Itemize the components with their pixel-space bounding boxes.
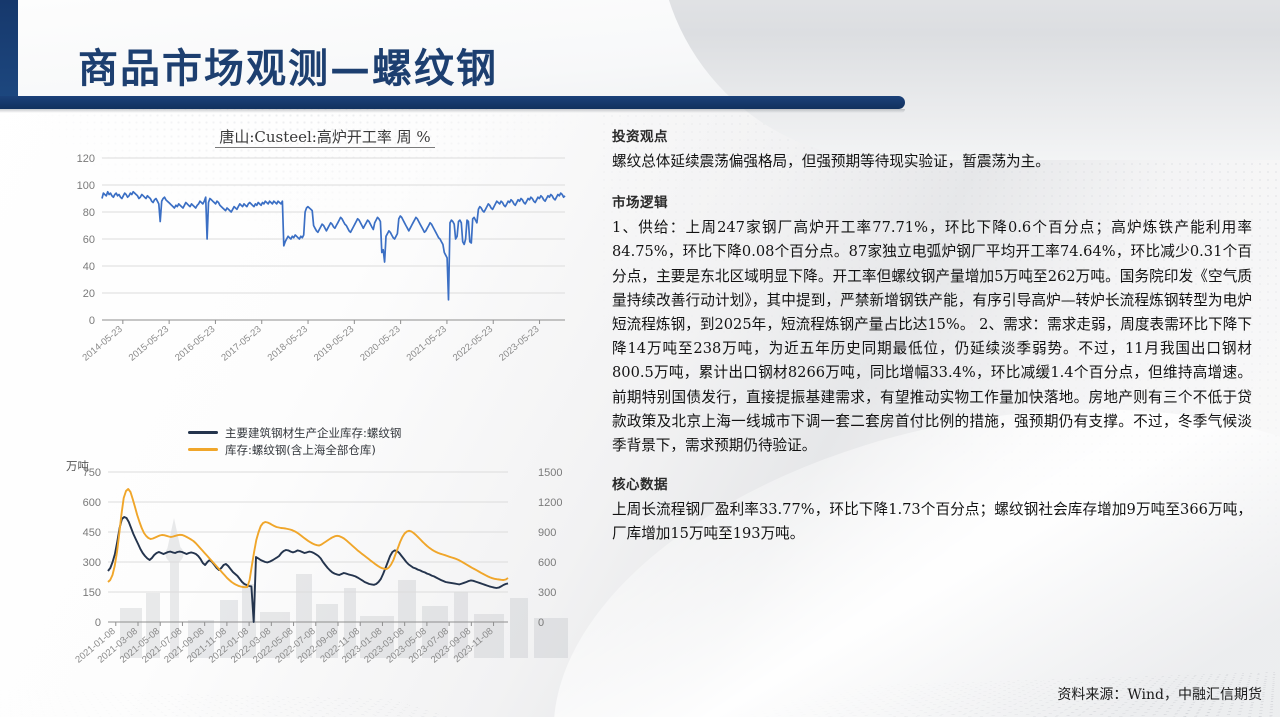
chart1-title-wrap: 唐山:Custeel:高炉开工率 周 % bbox=[60, 128, 590, 148]
legend-swatch-social-inventory bbox=[188, 448, 218, 451]
svg-text:2022-05-23: 2022-05-23 bbox=[451, 324, 495, 364]
svg-text:120: 120 bbox=[77, 153, 95, 165]
slide-header: 商品市场观测—螺纹钢 bbox=[0, 0, 1280, 118]
legend-label-social-inventory: 库存:螺纹钢(含上海全部仓库) bbox=[225, 442, 376, 458]
chart2-canvas: 万吨01503004506007500300600900120015002021… bbox=[60, 458, 580, 688]
svg-text:60: 60 bbox=[83, 234, 95, 246]
page-title: 商品市场观测—螺纹钢 bbox=[78, 36, 498, 94]
svg-text:900: 900 bbox=[538, 527, 556, 539]
section-body-market-logic: 1、供给：上周247家钢厂高炉开工率77.71%，环比下降0.6个百分点；高炉炼… bbox=[612, 216, 1252, 458]
svg-text:450: 450 bbox=[83, 527, 101, 539]
section-heading-core-data: 核心数据 bbox=[612, 473, 1252, 493]
source-note: 资料来源：Wind，中融汇信期货 bbox=[1057, 684, 1262, 704]
header-rule-shadow bbox=[0, 109, 905, 113]
svg-text:750: 750 bbox=[83, 467, 101, 479]
chart-blast-furnace-operating-rate: 唐山:Custeel:高炉开工率 周 % 0204060801001202014… bbox=[60, 128, 590, 398]
chart1-title: 唐山:Custeel:高炉开工率 周 % bbox=[215, 128, 434, 148]
legend-swatch-mill-inventory bbox=[188, 431, 218, 434]
svg-text:2021-05-23: 2021-05-23 bbox=[405, 324, 449, 364]
chart-rebar-inventory: 万吨01503004506007500300600900120015002021… bbox=[60, 458, 580, 693]
chart2-legend: 主要建筑钢材生产企业库存:螺纹钢 库存:螺纹钢(含上海全部仓库) bbox=[188, 424, 518, 458]
svg-text:0: 0 bbox=[538, 617, 544, 629]
chart1-canvas: 0204060801001202014-05-232015-05-232016-… bbox=[60, 148, 580, 393]
svg-text:1500: 1500 bbox=[538, 467, 562, 479]
svg-text:2017-05-23: 2017-05-23 bbox=[219, 324, 263, 364]
section-heading-investment-view: 投资观点 bbox=[612, 125, 1252, 145]
svg-text:80: 80 bbox=[83, 207, 95, 219]
commentary-column: 投资观点 螺纹总体延续震荡偏强格局，但强预期等待现实验证，暂震荡为主。 市场逻辑… bbox=[612, 125, 1252, 564]
svg-text:0: 0 bbox=[89, 315, 95, 327]
charts-column: 唐山:Custeel:高炉开工率 周 % 0204060801001202014… bbox=[60, 128, 590, 688]
header-accent-rule bbox=[0, 96, 905, 109]
svg-text:0: 0 bbox=[95, 617, 101, 629]
legend-item-mill-inventory: 主要建筑钢材生产企业库存:螺纹钢 bbox=[188, 424, 518, 441]
section-core-data: 核心数据 上周长流程钢厂盈利率33.77%，环比下降1.73个百分点；螺纹钢社会… bbox=[612, 473, 1252, 546]
svg-text:2020-05-23: 2020-05-23 bbox=[358, 324, 402, 364]
slide-root: 商品市场观测—螺纹钢 唐山:Custeel:高炉开工率 周 % 02040608… bbox=[0, 0, 1280, 720]
section-heading-market-logic: 市场逻辑 bbox=[612, 191, 1252, 211]
svg-text:300: 300 bbox=[83, 557, 101, 569]
svg-text:2015-05-23: 2015-05-23 bbox=[127, 324, 171, 364]
svg-text:600: 600 bbox=[83, 497, 101, 509]
section-body-investment-view: 螺纹总体延续震荡偏强格局，但强预期等待现实验证，暂震荡为主。 bbox=[612, 150, 1252, 174]
svg-text:2019-05-23: 2019-05-23 bbox=[312, 324, 356, 364]
svg-text:150: 150 bbox=[83, 587, 101, 599]
section-body-core-data: 上周长流程钢厂盈利率33.77%，环比下降1.73个百分点；螺纹钢社会库存增加9… bbox=[612, 498, 1252, 546]
section-investment-view: 投资观点 螺纹总体延续震荡偏强格局，但强预期等待现实验证，暂震荡为主。 bbox=[612, 125, 1252, 174]
svg-text:100: 100 bbox=[77, 180, 95, 192]
section-market-logic: 市场逻辑 1、供给：上周247家钢厂高炉开工率77.71%，环比下降0.6个百分… bbox=[612, 191, 1252, 458]
svg-text:20: 20 bbox=[83, 288, 95, 300]
svg-text:2018-05-23: 2018-05-23 bbox=[266, 324, 310, 364]
svg-text:600: 600 bbox=[538, 557, 556, 569]
legend-item-social-inventory: 库存:螺纹钢(含上海全部仓库) bbox=[188, 441, 518, 458]
legend-label-mill-inventory: 主要建筑钢材生产企业库存:螺纹钢 bbox=[225, 425, 401, 441]
svg-text:2023-05-23: 2023-05-23 bbox=[497, 324, 541, 364]
svg-text:300: 300 bbox=[538, 587, 556, 599]
svg-text:40: 40 bbox=[83, 261, 95, 273]
header-left-accent-bar bbox=[0, 0, 18, 104]
svg-text:1200: 1200 bbox=[538, 497, 562, 509]
svg-text:2016-05-23: 2016-05-23 bbox=[173, 324, 217, 364]
svg-text:2014-05-23: 2014-05-23 bbox=[80, 324, 124, 364]
